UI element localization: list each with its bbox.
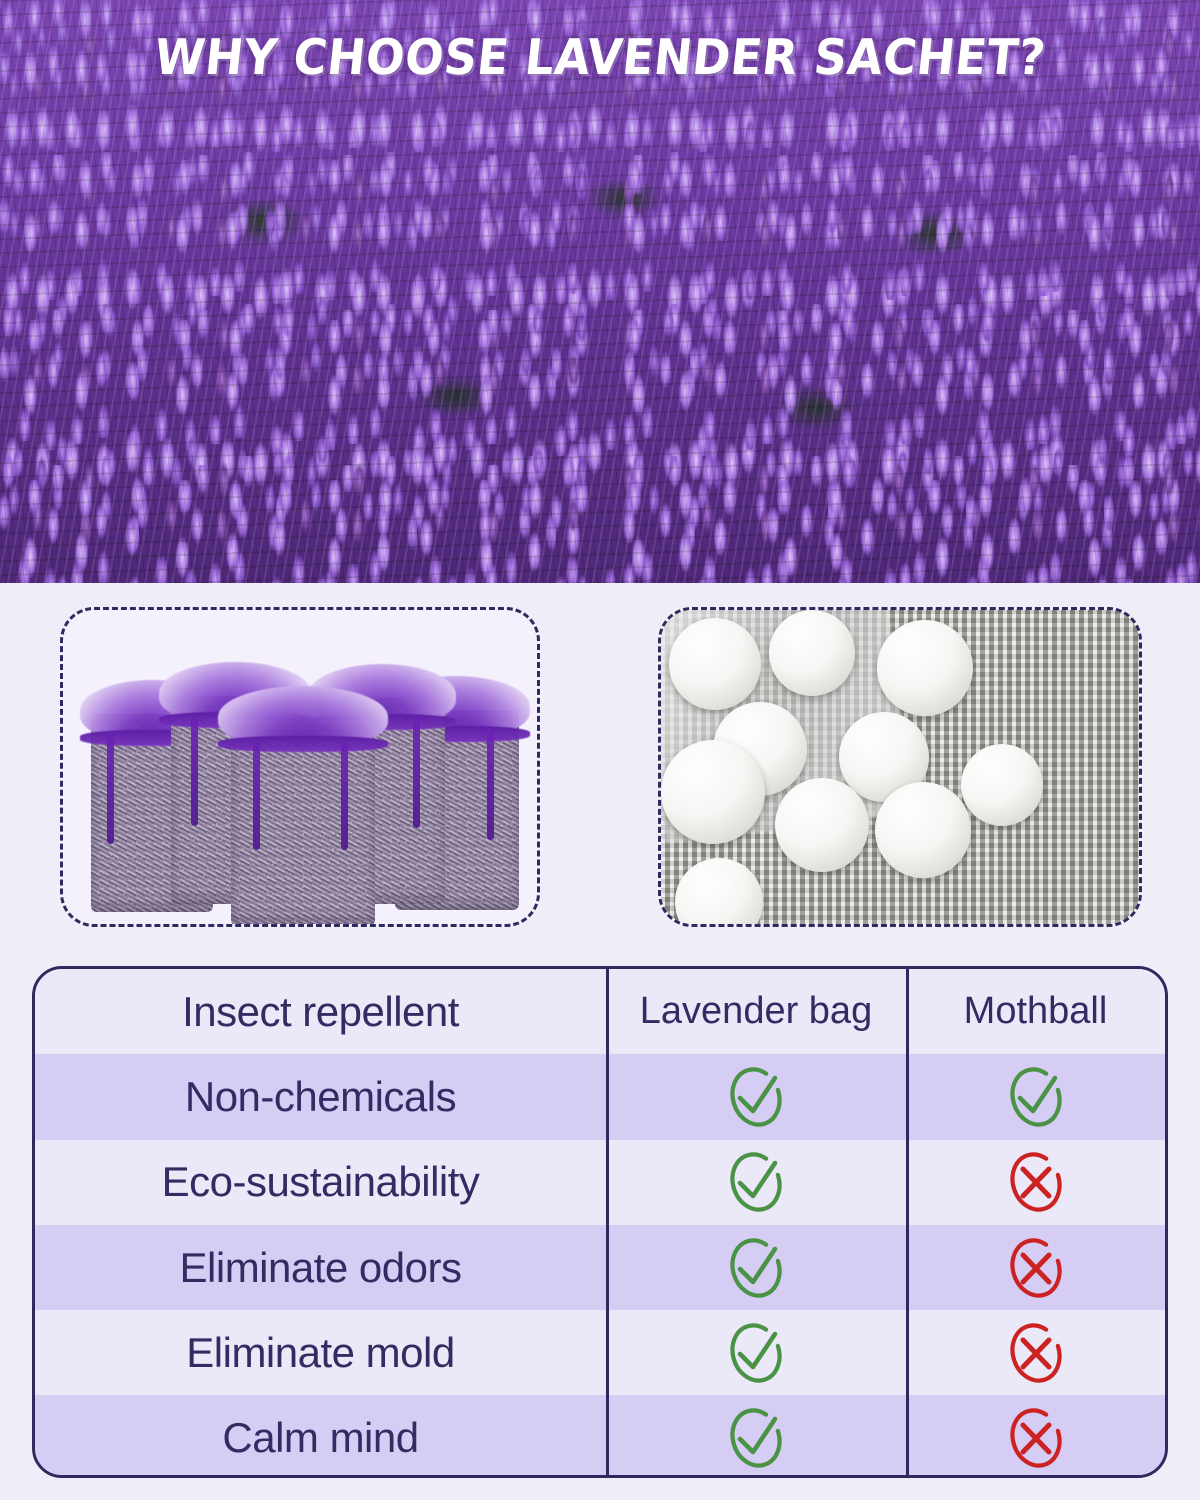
check-icon [1006,1064,1066,1130]
column-divider [906,969,909,1054]
column-divider [606,1054,609,1139]
lavender-mark-cell [606,1149,906,1215]
column-divider [906,1395,909,1478]
lavender-mark-cell [606,1320,906,1386]
infographic-page: WHY CHOOSE LAVENDER SACHET? [0,0,1200,1500]
sachet-bag-front [231,720,375,926]
sachet-ribbon [107,734,114,844]
mothball [877,620,973,716]
cross-icon [1006,1149,1066,1215]
sachet-organza-top [218,686,388,748]
hero-banner: WHY CHOOSE LAVENDER SACHET? [0,0,1200,583]
mothball-mark-cell [906,1405,1165,1471]
cross-icon [1006,1235,1066,1301]
mothball [961,744,1043,826]
sachet-ribbon [253,740,260,850]
check-icon [726,1235,786,1301]
table-row: Calm mind [35,1395,1165,1478]
column-divider [906,1225,909,1310]
mothball [675,858,763,927]
column-divider [606,1310,609,1395]
mothball-mark-cell [906,1320,1165,1386]
photo-highlight-overlay [0,0,1200,583]
table-row: Non-chemicals [35,1054,1165,1139]
lavender-sachet-panel [60,607,540,927]
sachet-ribbon [413,718,420,828]
cross-icon [1006,1405,1066,1471]
column-divider [606,969,609,1054]
row-label: Eco-sustainability [35,1158,606,1206]
row-label: Eliminate odors [35,1244,606,1292]
cross-icon [1006,1320,1066,1386]
check-icon [726,1064,786,1130]
column-divider [906,1140,909,1225]
table-row: Eliminate odors [35,1225,1165,1310]
sachet-ribbon [487,730,494,840]
mothball-panel [658,607,1142,927]
check-icon [726,1405,786,1471]
check-icon [726,1149,786,1215]
header-col-lavender: Lavender bag [606,990,906,1033]
mothballs-on-burlap-photo [661,610,1139,924]
sachet-ribbon [341,740,348,850]
mothball-mark-cell [906,1149,1165,1215]
header-col-mothball: Mothball [906,990,1165,1033]
mothball-mark-cell [906,1064,1165,1130]
row-label: Non-chemicals [35,1073,606,1121]
table-row: Eco-sustainability [35,1140,1165,1225]
check-icon [726,1320,786,1386]
mothball-mark-cell [906,1235,1165,1301]
lavender-mark-cell [606,1405,906,1471]
column-divider [606,1395,609,1478]
mothball [661,740,765,844]
comparison-table: Insect repellent Lavender bag Mothball N… [32,966,1168,1478]
mothball [875,782,971,878]
mothball [669,618,761,710]
mothball [775,778,869,872]
column-divider [906,1310,909,1395]
comparison-strip: VS [0,583,1200,958]
table-row: Eliminate mold [35,1310,1165,1395]
column-divider [606,1225,609,1310]
sachet-ribbon [191,716,198,826]
column-divider [606,1140,609,1225]
row-label: Calm mind [35,1414,606,1462]
header-feature-label: Insect repellent [35,988,606,1036]
row-label: Eliminate mold [35,1329,606,1377]
lavender-mark-cell [606,1064,906,1130]
mothball [769,610,855,696]
column-divider [906,1054,909,1139]
lavender-sachet-bags-photo [63,610,537,924]
table-header-row: Insect repellent Lavender bag Mothball [35,969,1165,1054]
lavender-mark-cell [606,1235,906,1301]
page-title: WHY CHOOSE LAVENDER SACHET? [0,33,1200,83]
